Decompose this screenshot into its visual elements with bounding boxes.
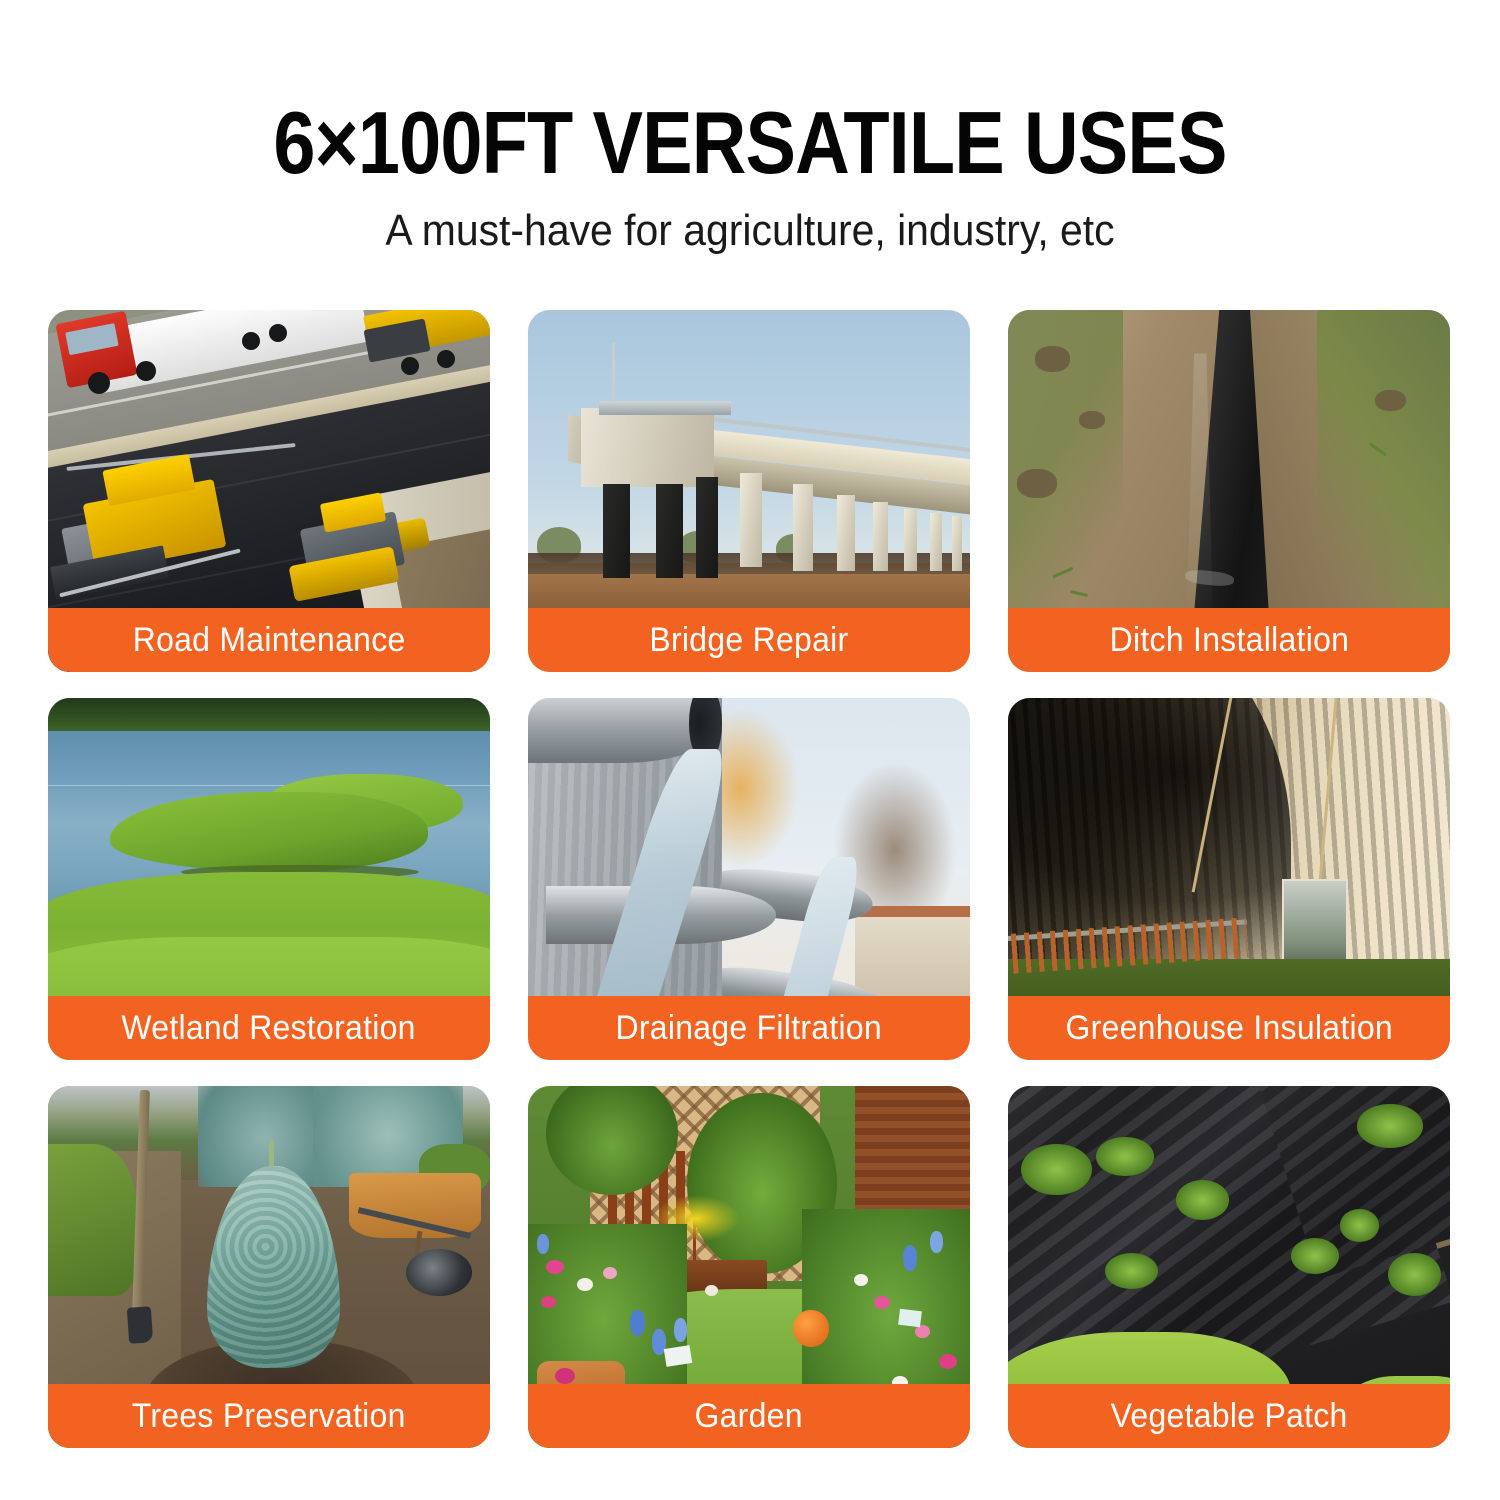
tile-caption-label: Drainage Filtration	[616, 1009, 882, 1048]
use-case-grid: Road Maintenance	[48, 310, 1452, 1448]
use-case-tile-ditch-installation[interactable]: Ditch Installation	[1008, 310, 1450, 672]
use-case-tile-garden[interactable]: Garden	[528, 1086, 970, 1448]
use-case-tile-vegetable-patch[interactable]: Vegetable Patch	[1008, 1086, 1450, 1448]
tile-caption-label: Ditch Installation	[1109, 621, 1349, 660]
infographic-page: 6×100FT VERSATILE USES A must-have for a…	[0, 0, 1500, 1500]
tile-caption-bar: Greenhouse Insulation	[1008, 996, 1450, 1060]
tile-caption-label: Greenhouse Insulation	[1065, 1009, 1393, 1048]
tile-caption-label: Garden	[695, 1397, 803, 1436]
page-subtitle: A must-have for agriculture, industry, e…	[53, 206, 1448, 256]
page-title: 6×100FT VERSATILE USES	[105, 98, 1395, 188]
use-case-tile-road-maintenance[interactable]: Road Maintenance	[48, 310, 490, 672]
tile-caption-label: Wetland Restoration	[122, 1009, 416, 1048]
use-case-tile-trees-preservation[interactable]: Trees Preservation	[48, 1086, 490, 1448]
tile-caption-bar: Ditch Installation	[1008, 608, 1450, 672]
tile-caption-bar: Wetland Restoration	[48, 996, 490, 1060]
tile-caption-label: Road Maintenance	[133, 621, 406, 660]
use-case-tile-drainage-filtration[interactable]: Drainage Filtration	[528, 698, 970, 1060]
tile-caption-label: Bridge Repair	[649, 621, 848, 660]
tile-caption-label: Trees Preservation	[132, 1397, 406, 1436]
use-case-tile-wetland-restoration[interactable]: Wetland Restoration	[48, 698, 490, 1060]
tile-caption-bar: Bridge Repair	[528, 608, 970, 672]
header: 6×100FT VERSATILE USES A must-have for a…	[0, 0, 1500, 256]
tile-caption-bar: Road Maintenance	[48, 608, 490, 672]
tile-caption-label: Vegetable Patch	[1110, 1397, 1347, 1436]
use-case-tile-greenhouse-insulation[interactable]: Greenhouse Insulation	[1008, 698, 1450, 1060]
use-case-tile-bridge-repair[interactable]: Bridge Repair	[528, 310, 970, 672]
tile-caption-bar: Vegetable Patch	[1008, 1384, 1450, 1448]
tile-caption-bar: Trees Preservation	[48, 1384, 490, 1448]
tile-caption-bar: Drainage Filtration	[528, 996, 970, 1060]
tile-caption-bar: Garden	[528, 1384, 970, 1448]
